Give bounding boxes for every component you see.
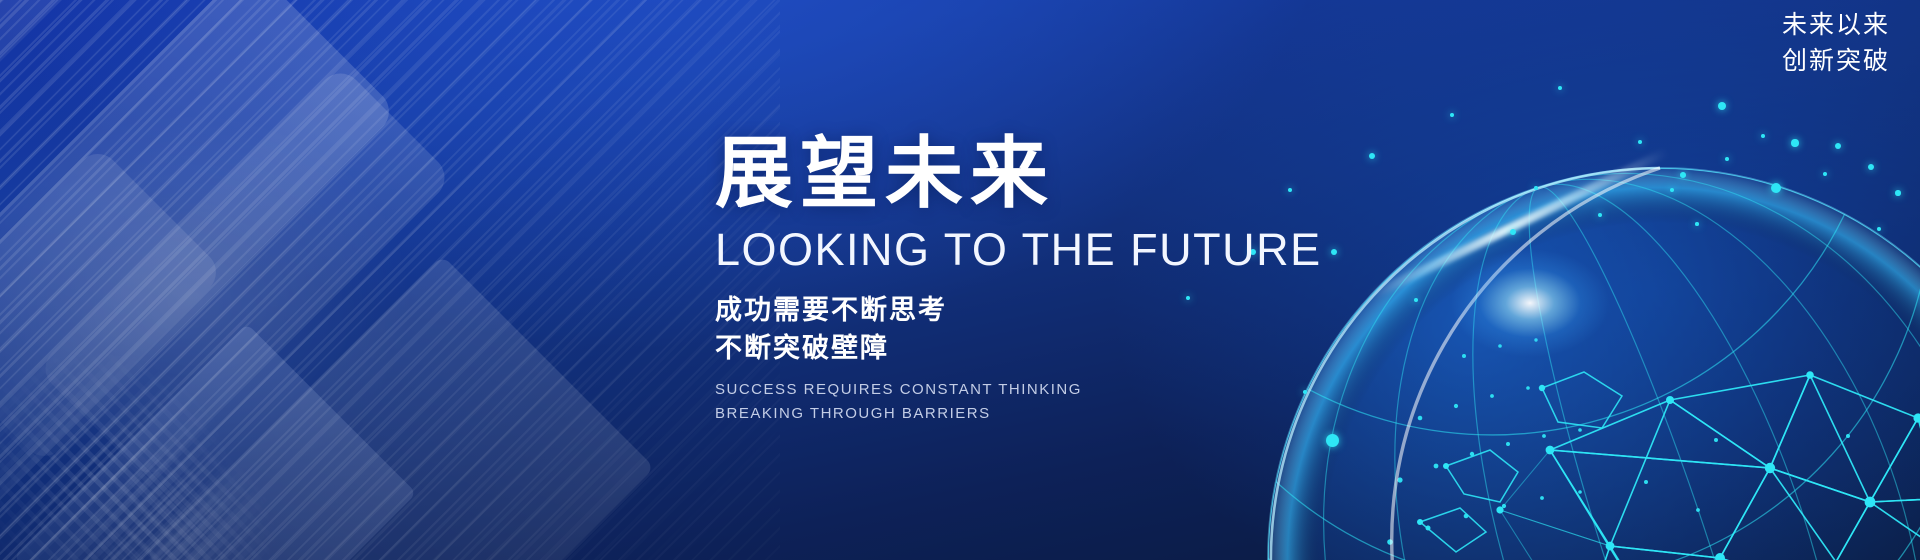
floating-dot (1791, 139, 1798, 146)
floating-dot (1761, 134, 1766, 139)
subheadline-chinese: 成功需要不断思考 不断突破壁障 (715, 291, 1355, 368)
floating-dot (1638, 140, 1642, 144)
corner-tagline-line2: 创新突破 (1782, 44, 1890, 80)
subheadline-english-line2: BREAKING THROUGH BARRIERS (715, 402, 1355, 426)
subheadline-english: SUCCESS REQUIRES CONSTANT THINKING BREAK… (715, 378, 1355, 427)
corner-tagline: 未来以来 创新突破 (1782, 8, 1890, 79)
diagonal-stripes (0, 0, 780, 560)
left-geometric-pattern (0, 0, 780, 560)
promo-banner: 未来以来 创新突破 展望未来 LOOKING TO THE FUTURE 成功需… (0, 0, 1920, 560)
floating-dot (1835, 143, 1842, 150)
page-title: 展望未来 (715, 132, 1355, 215)
corner-tagline-line1: 未来以来 (1782, 8, 1890, 44)
headline-block: 展望未来 LOOKING TO THE FUTURE 成功需要不断思考 不断突破… (715, 132, 1355, 426)
floating-dot (1450, 113, 1454, 117)
floating-dot (1558, 86, 1563, 91)
floating-dot (1718, 102, 1726, 110)
subheadline-chinese-line2: 不断突破壁障 (715, 329, 1355, 367)
subheadline-chinese-line1: 成功需要不断思考 (715, 291, 1355, 329)
subheadline-english-line1: SUCCESS REQUIRES CONSTANT THINKING (715, 378, 1355, 402)
headline-english: LOOKING TO THE FUTURE (715, 225, 1355, 275)
